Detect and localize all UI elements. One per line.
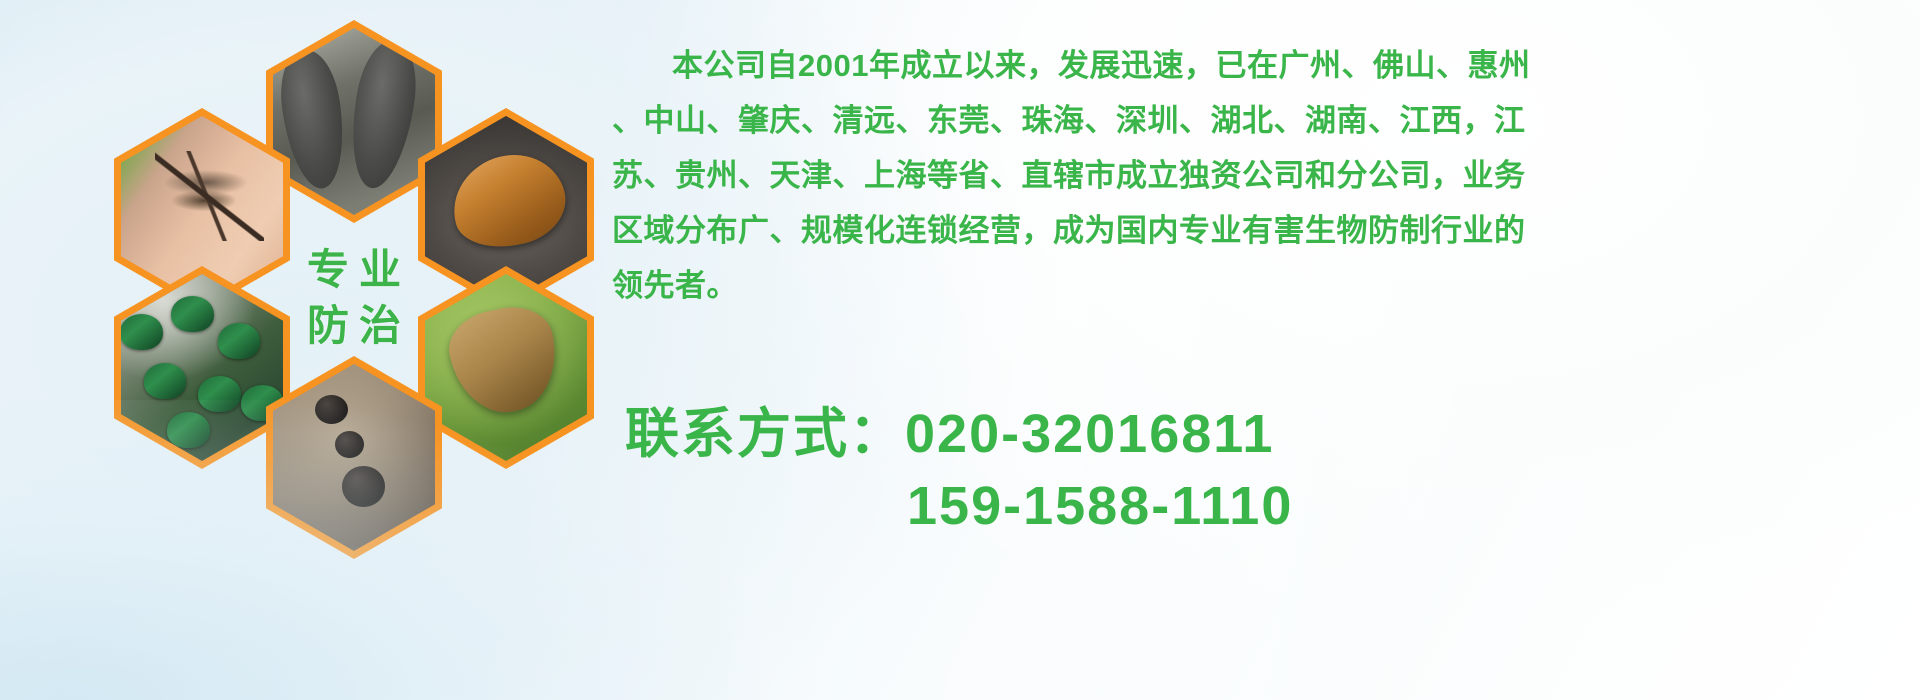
hex-photo-frame: [273, 28, 435, 215]
hex-photo-frame: [425, 274, 587, 461]
contact-primary[interactable]: 联系方式：020-32016811: [625, 398, 1915, 470]
hex-cell-stink-bug[interactable]: [418, 266, 594, 469]
stink-bug-shape: [442, 299, 566, 422]
fly-shape: [144, 363, 187, 399]
honeycomb-label-line-2: 防治: [297, 305, 411, 347]
fly-shape: [121, 314, 163, 350]
cockroach-shape: [442, 143, 573, 257]
description-line: 苏、贵州、天津、上海等省、直辖市成立独资公司和分公司，业务: [612, 148, 1900, 203]
ant-head: [315, 395, 348, 424]
hex-photo-frame: [121, 274, 283, 461]
fly-shape: [167, 412, 210, 448]
flies-photo: [121, 274, 283, 461]
rats-photo: [273, 28, 435, 215]
stink-bug-photo: [425, 274, 587, 461]
ant-photo: [273, 364, 435, 551]
ant-abdomen: [342, 466, 385, 506]
hex-cell-flies[interactable]: [114, 266, 290, 469]
ant-thorax: [335, 431, 364, 458]
honeycomb-label-line-1: 专业: [297, 249, 411, 291]
rat-shape: [343, 37, 424, 192]
description-line: 区域分布广、规模化连锁经营，成为国内专业有害生物防制行业的: [612, 203, 1900, 258]
banner-root: 专业 防治: [0, 0, 1920, 700]
hex-cell-rats[interactable]: [266, 20, 442, 223]
description-line: 本公司自2001年成立以来，发展迅速，已在广州、佛山、惠州: [612, 38, 1900, 93]
fly-shape: [171, 296, 214, 332]
description-line: 、中山、肇庆、清远、东莞、珠海、深圳、湖北、湖南、江西，江: [612, 93, 1900, 148]
contact-secondary[interactable]: 159-1588-1110: [625, 470, 1915, 542]
description-line: 领先者。: [612, 258, 1900, 313]
honeycomb-cluster: 专业 防治: [70, 0, 610, 580]
fly-shape: [198, 376, 241, 412]
fly-shape: [218, 323, 261, 359]
company-description: 本公司自2001年成立以来，发展迅速，已在广州、佛山、惠州 、中山、肇庆、清远、…: [612, 38, 1900, 313]
hex-photo-frame: [273, 364, 435, 551]
contact-block: 联系方式：020-32016811 159-1588-1110: [625, 398, 1915, 542]
mosquito-shape: [155, 151, 264, 241]
